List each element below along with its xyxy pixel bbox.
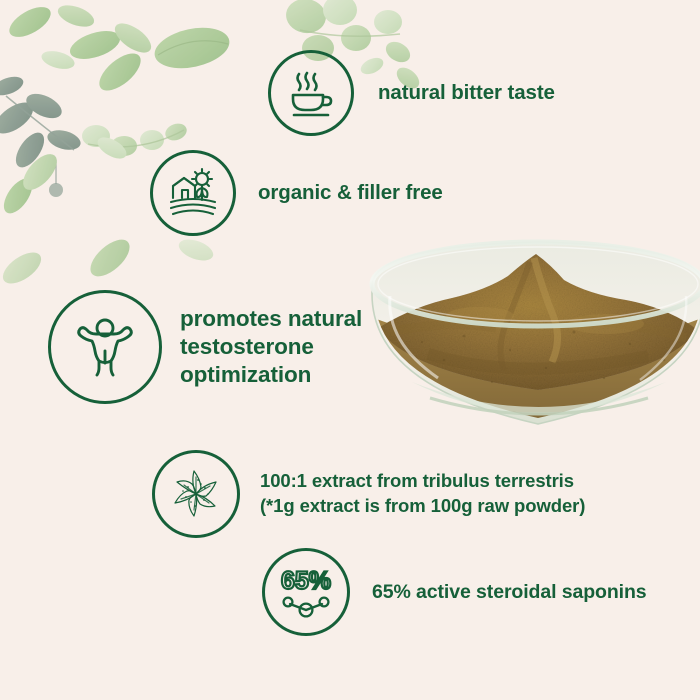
feature-label: 65% active steroidal saponins [372, 581, 647, 604]
feature-extract-ratio: 100:1 extract from tribulus terrestris (… [152, 450, 585, 538]
badge-testosterone-optimization [48, 290, 162, 404]
infographic-canvas: natural bitter taste [0, 0, 700, 700]
flexing-muscle-figure-icon [72, 314, 138, 380]
badge-organic-filler-free [150, 150, 236, 236]
feature-label: promotes natural testosterone optimizati… [180, 305, 362, 389]
feature-label: organic & filler free [258, 181, 443, 205]
badge-extract-ratio [152, 450, 240, 538]
feature-label: 100:1 extract from tribulus terrestris (… [260, 469, 585, 519]
tribulus-plant-icon [167, 465, 225, 523]
feature-natural-bitter-taste: natural bitter taste [268, 50, 555, 136]
percentage-molecule-icon: 65% [276, 562, 336, 622]
feature-testosterone-optimization: promotes natural testosterone optimizati… [48, 290, 362, 404]
feature-steroidal-saponins: 65% 65% active steroidal saponins [262, 548, 647, 636]
badge-steroidal-saponins: 65% [262, 548, 350, 636]
badge-natural-bitter-taste [268, 50, 354, 136]
badge-percent-value: 65% [281, 567, 331, 595]
coffee-cup-icon [285, 67, 337, 119]
feature-label: natural bitter taste [378, 81, 555, 105]
product-image-powder-bowl [368, 232, 700, 444]
farm-field-sun-icon [166, 166, 220, 220]
feature-organic-filler-free: organic & filler free [150, 150, 443, 236]
